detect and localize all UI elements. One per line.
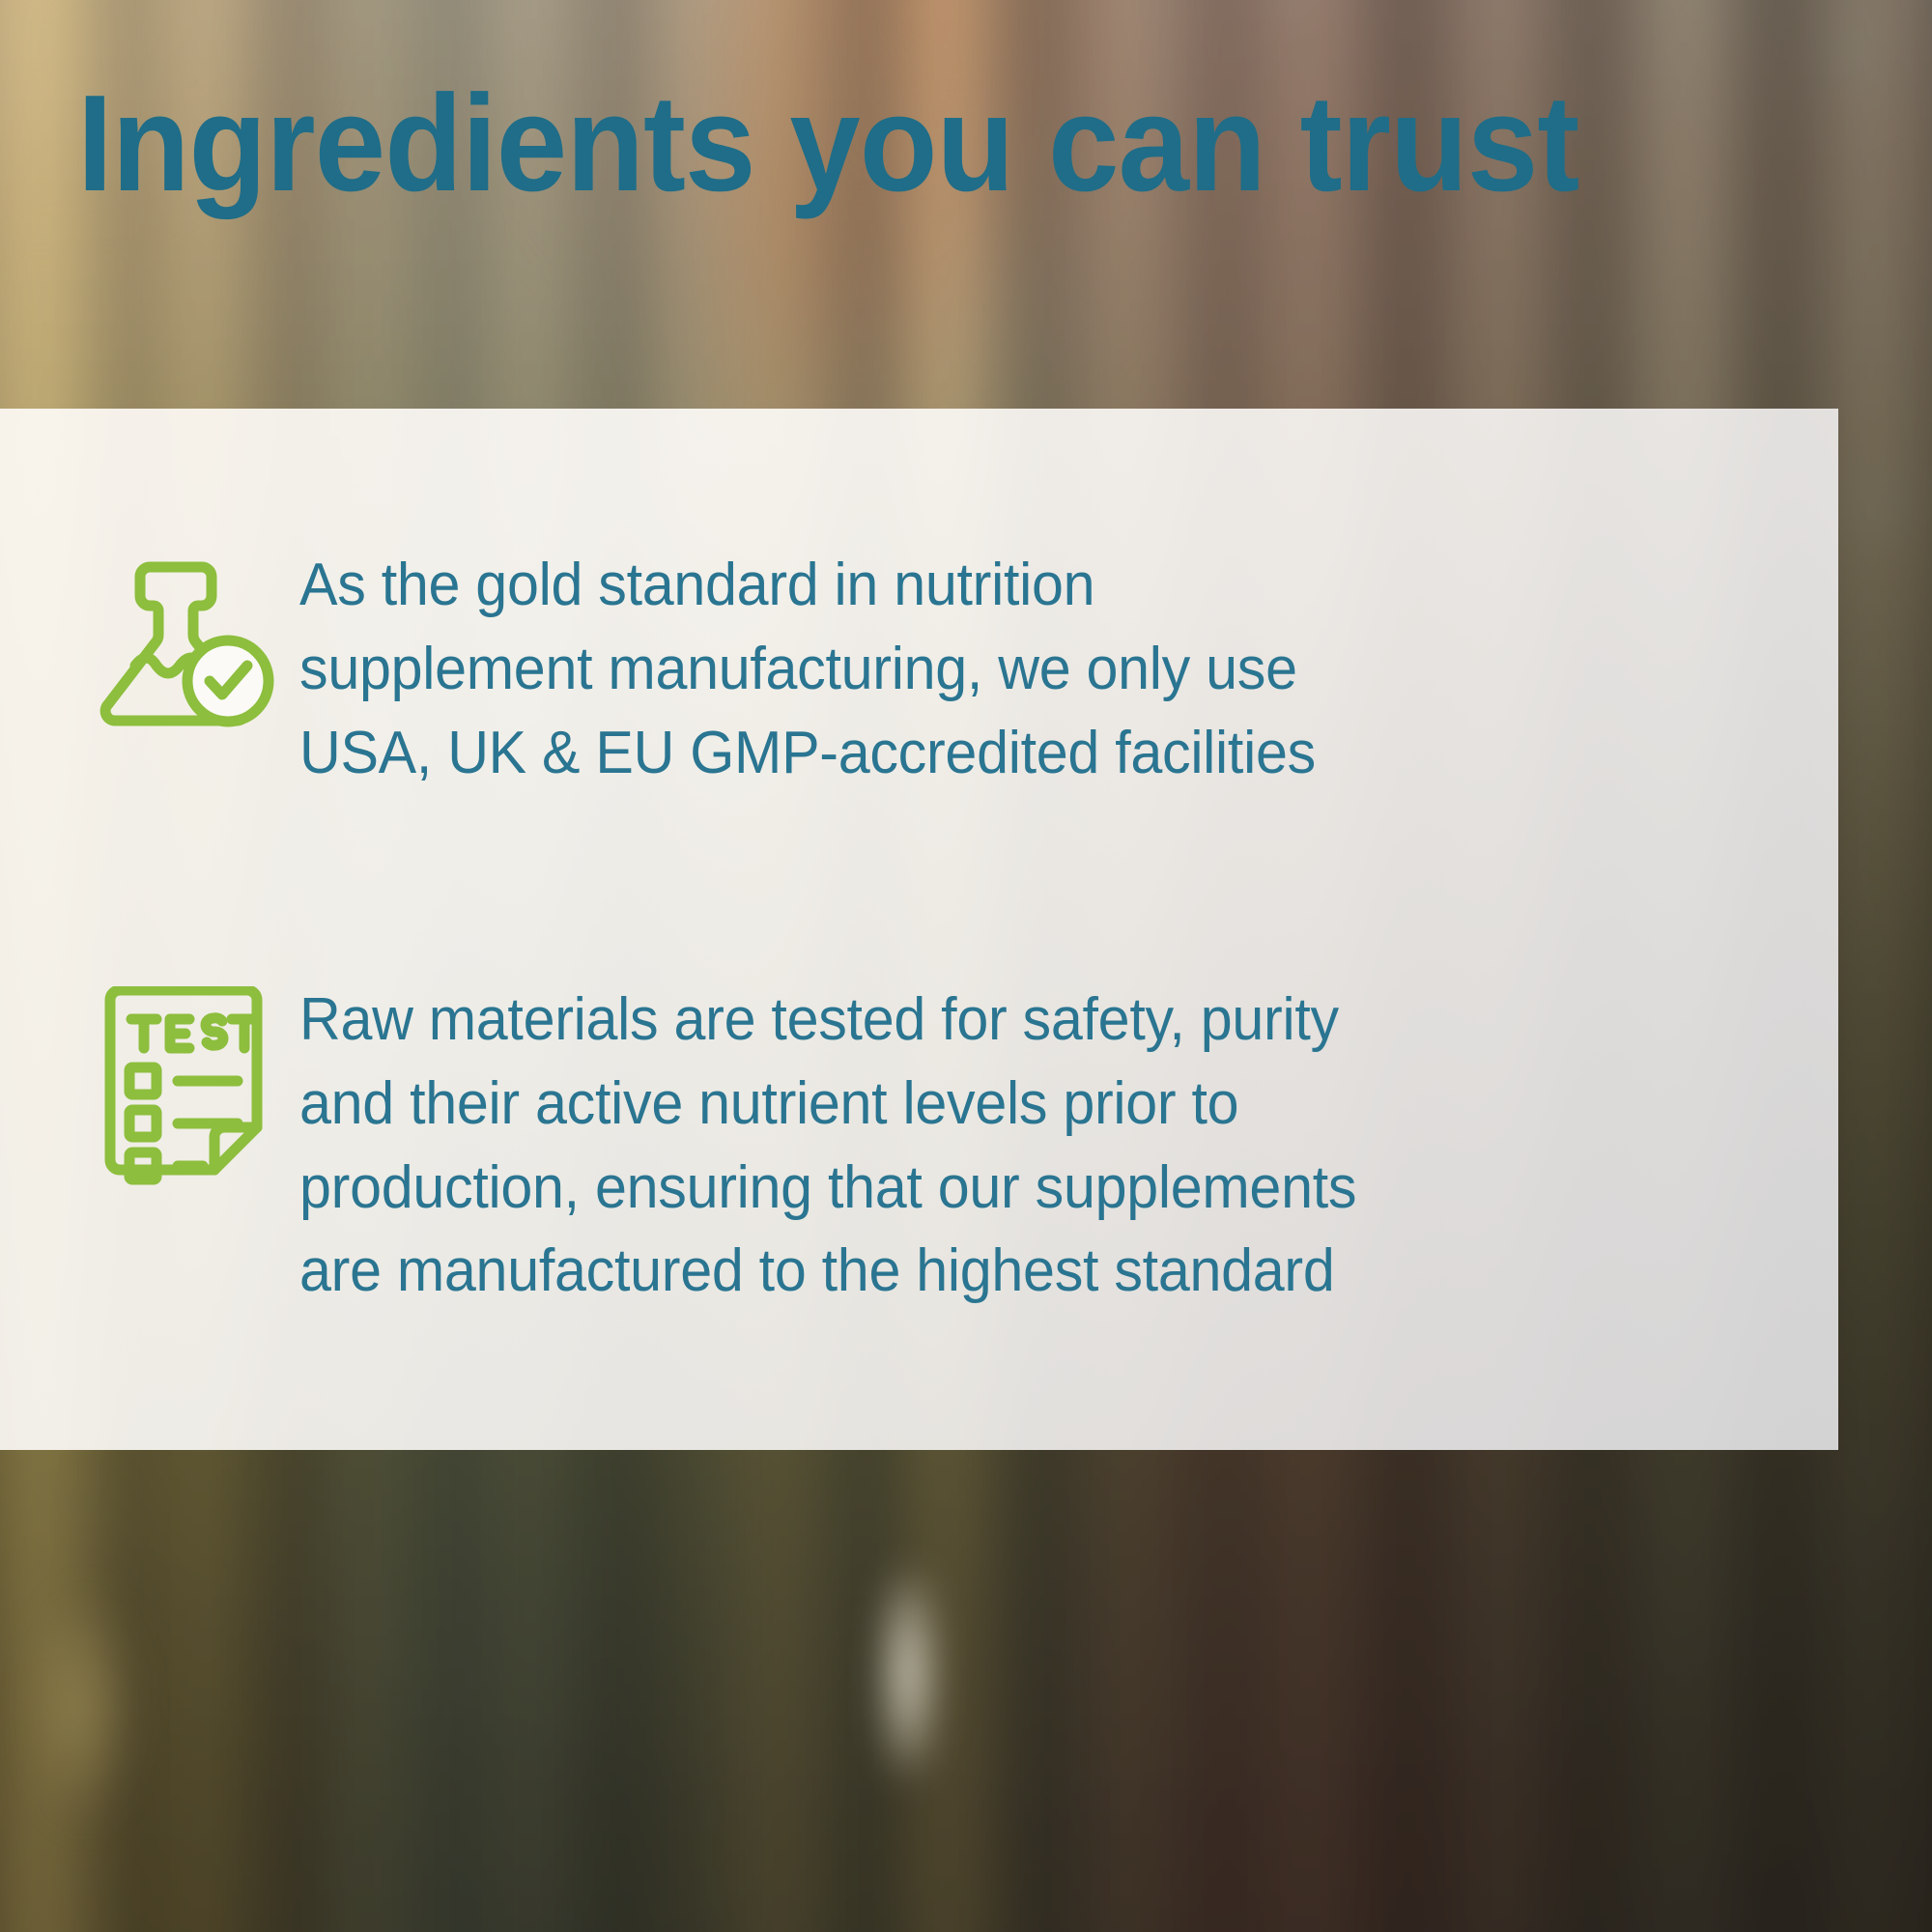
test-checklist-icon <box>97 986 270 1189</box>
page-root: Ingredients you can trust As the gold st… <box>0 0 1932 1932</box>
feature-icon-wrapper <box>97 544 299 735</box>
feature-description: As the gold standard in nutrition supple… <box>299 544 1370 795</box>
feature-row: As the gold standard in nutrition supple… <box>97 544 1420 795</box>
content-panel: As the gold standard in nutrition supple… <box>0 409 1838 1450</box>
feature-description: Raw materials are tested for safety, pur… <box>299 979 1435 1314</box>
flask-check-icon <box>97 552 280 735</box>
feature-row: Raw materials are tested for safety, pur… <box>97 979 1488 1314</box>
test-heading-letters <box>131 1018 257 1048</box>
page-title: Ingredients you can trust <box>77 75 1578 213</box>
feature-icon-wrapper <box>97 979 299 1189</box>
